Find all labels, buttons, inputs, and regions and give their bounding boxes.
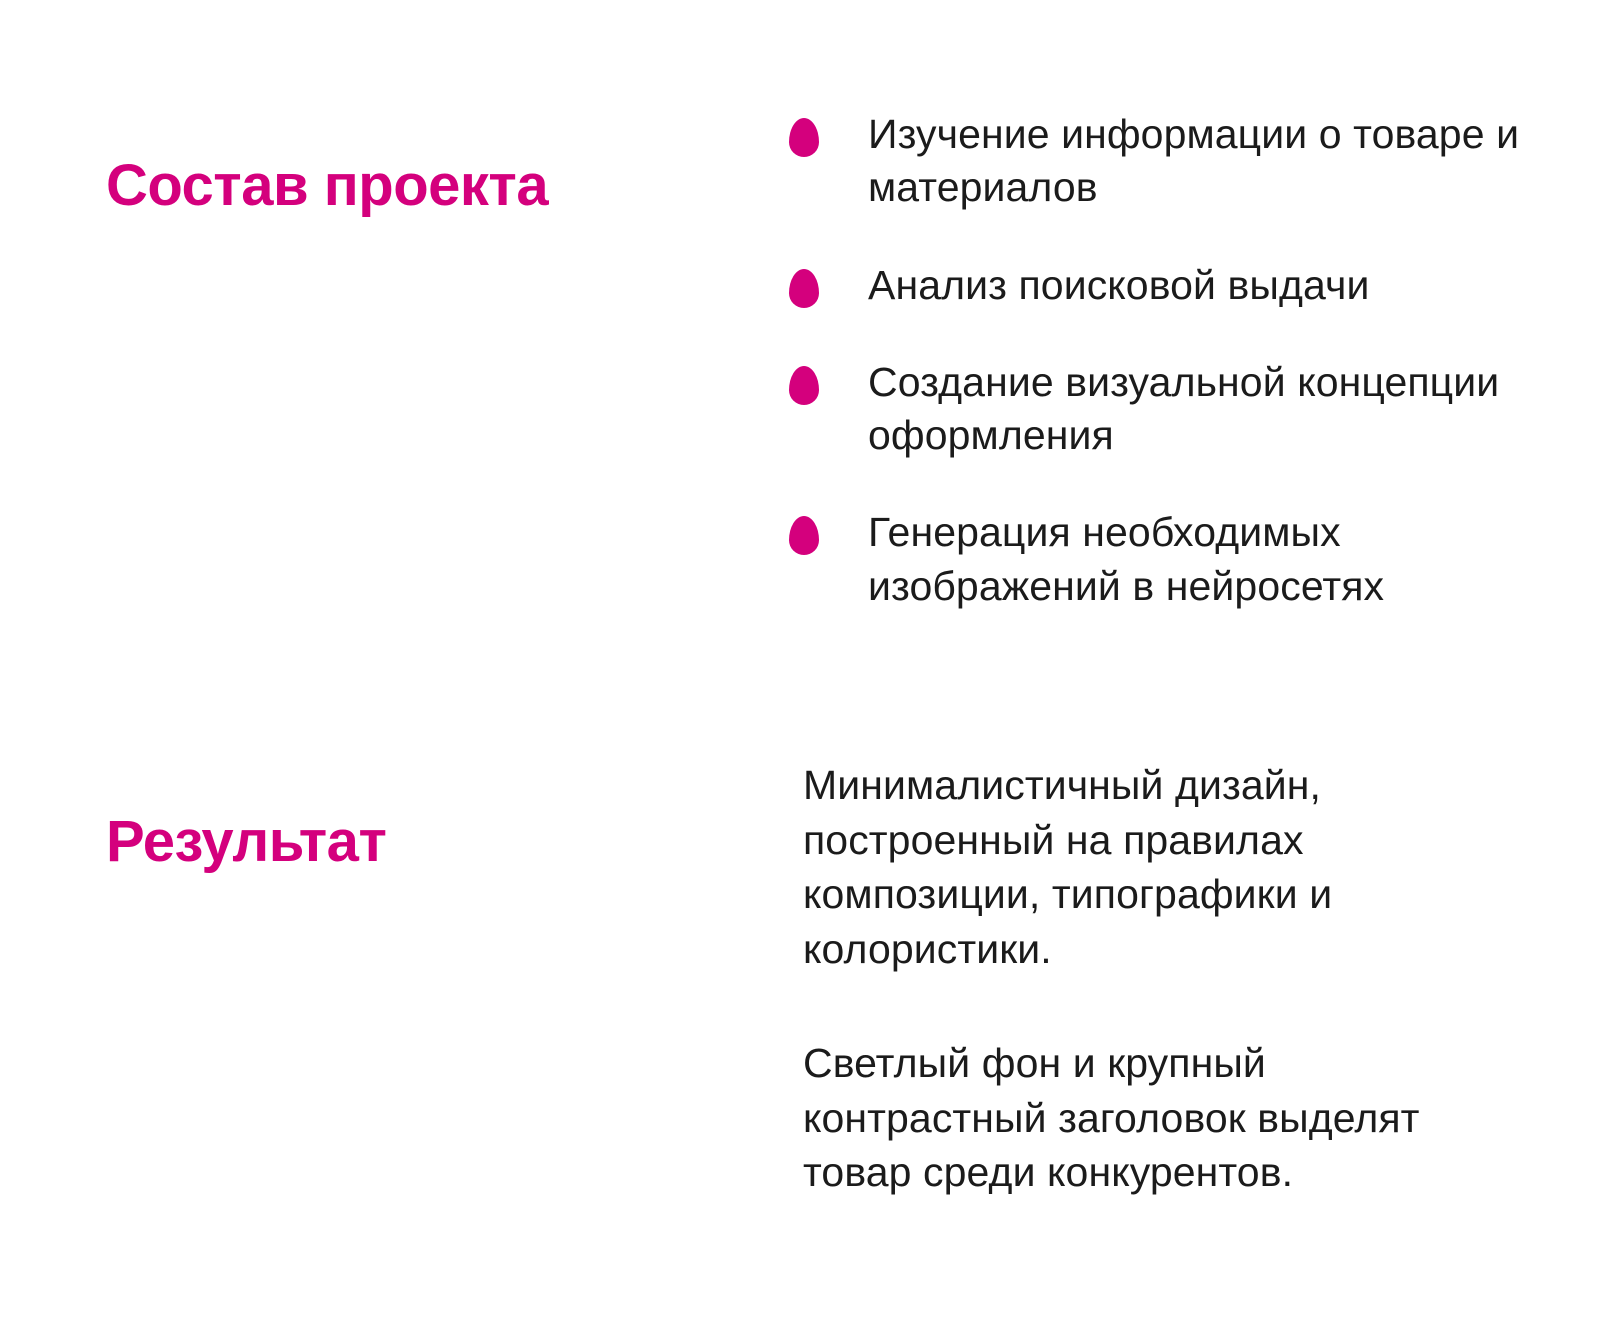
list-item: Изучение информации о товаре и материало… <box>785 108 1545 215</box>
teardrop-bullet-icon <box>789 118 819 157</box>
teardrop-bullet-icon <box>789 516 819 555</box>
composition-bullet-list: Изучение информации о товаре и материало… <box>785 108 1545 613</box>
list-item: Генерация необходимых изображений в нейр… <box>785 506 1545 613</box>
list-item-label: Генерация необходимых изображений в нейр… <box>868 506 1545 613</box>
list-item-label: Создание визуальной концепции оформления <box>868 356 1545 463</box>
section-composition: Состав проекта Изучение информации о тов… <box>0 0 1600 700</box>
section-result: Результат Минималистичный дизайн, постро… <box>0 700 1600 1326</box>
list-item: Анализ поисковой выдачи <box>785 259 1545 312</box>
result-heading: Результат <box>106 812 386 873</box>
result-body: Минималистичный дизайн, построенный на п… <box>803 758 1483 1200</box>
result-paragraph: Светлый фон и крупный контрастный заголо… <box>803 1036 1483 1200</box>
list-item-label: Анализ поисковой выдачи <box>868 259 1545 312</box>
composition-heading: Состав проекта <box>106 156 548 217</box>
result-paragraph: Минималистичный дизайн, построенный на п… <box>803 758 1483 976</box>
list-item-label: Изучение информации о товаре и материало… <box>868 108 1545 215</box>
list-item: Создание визуальной концепции оформления <box>785 356 1545 463</box>
teardrop-bullet-icon <box>789 366 819 405</box>
slide-root: Состав проекта Изучение информации о тов… <box>0 0 1600 1326</box>
teardrop-bullet-icon <box>789 269 819 308</box>
